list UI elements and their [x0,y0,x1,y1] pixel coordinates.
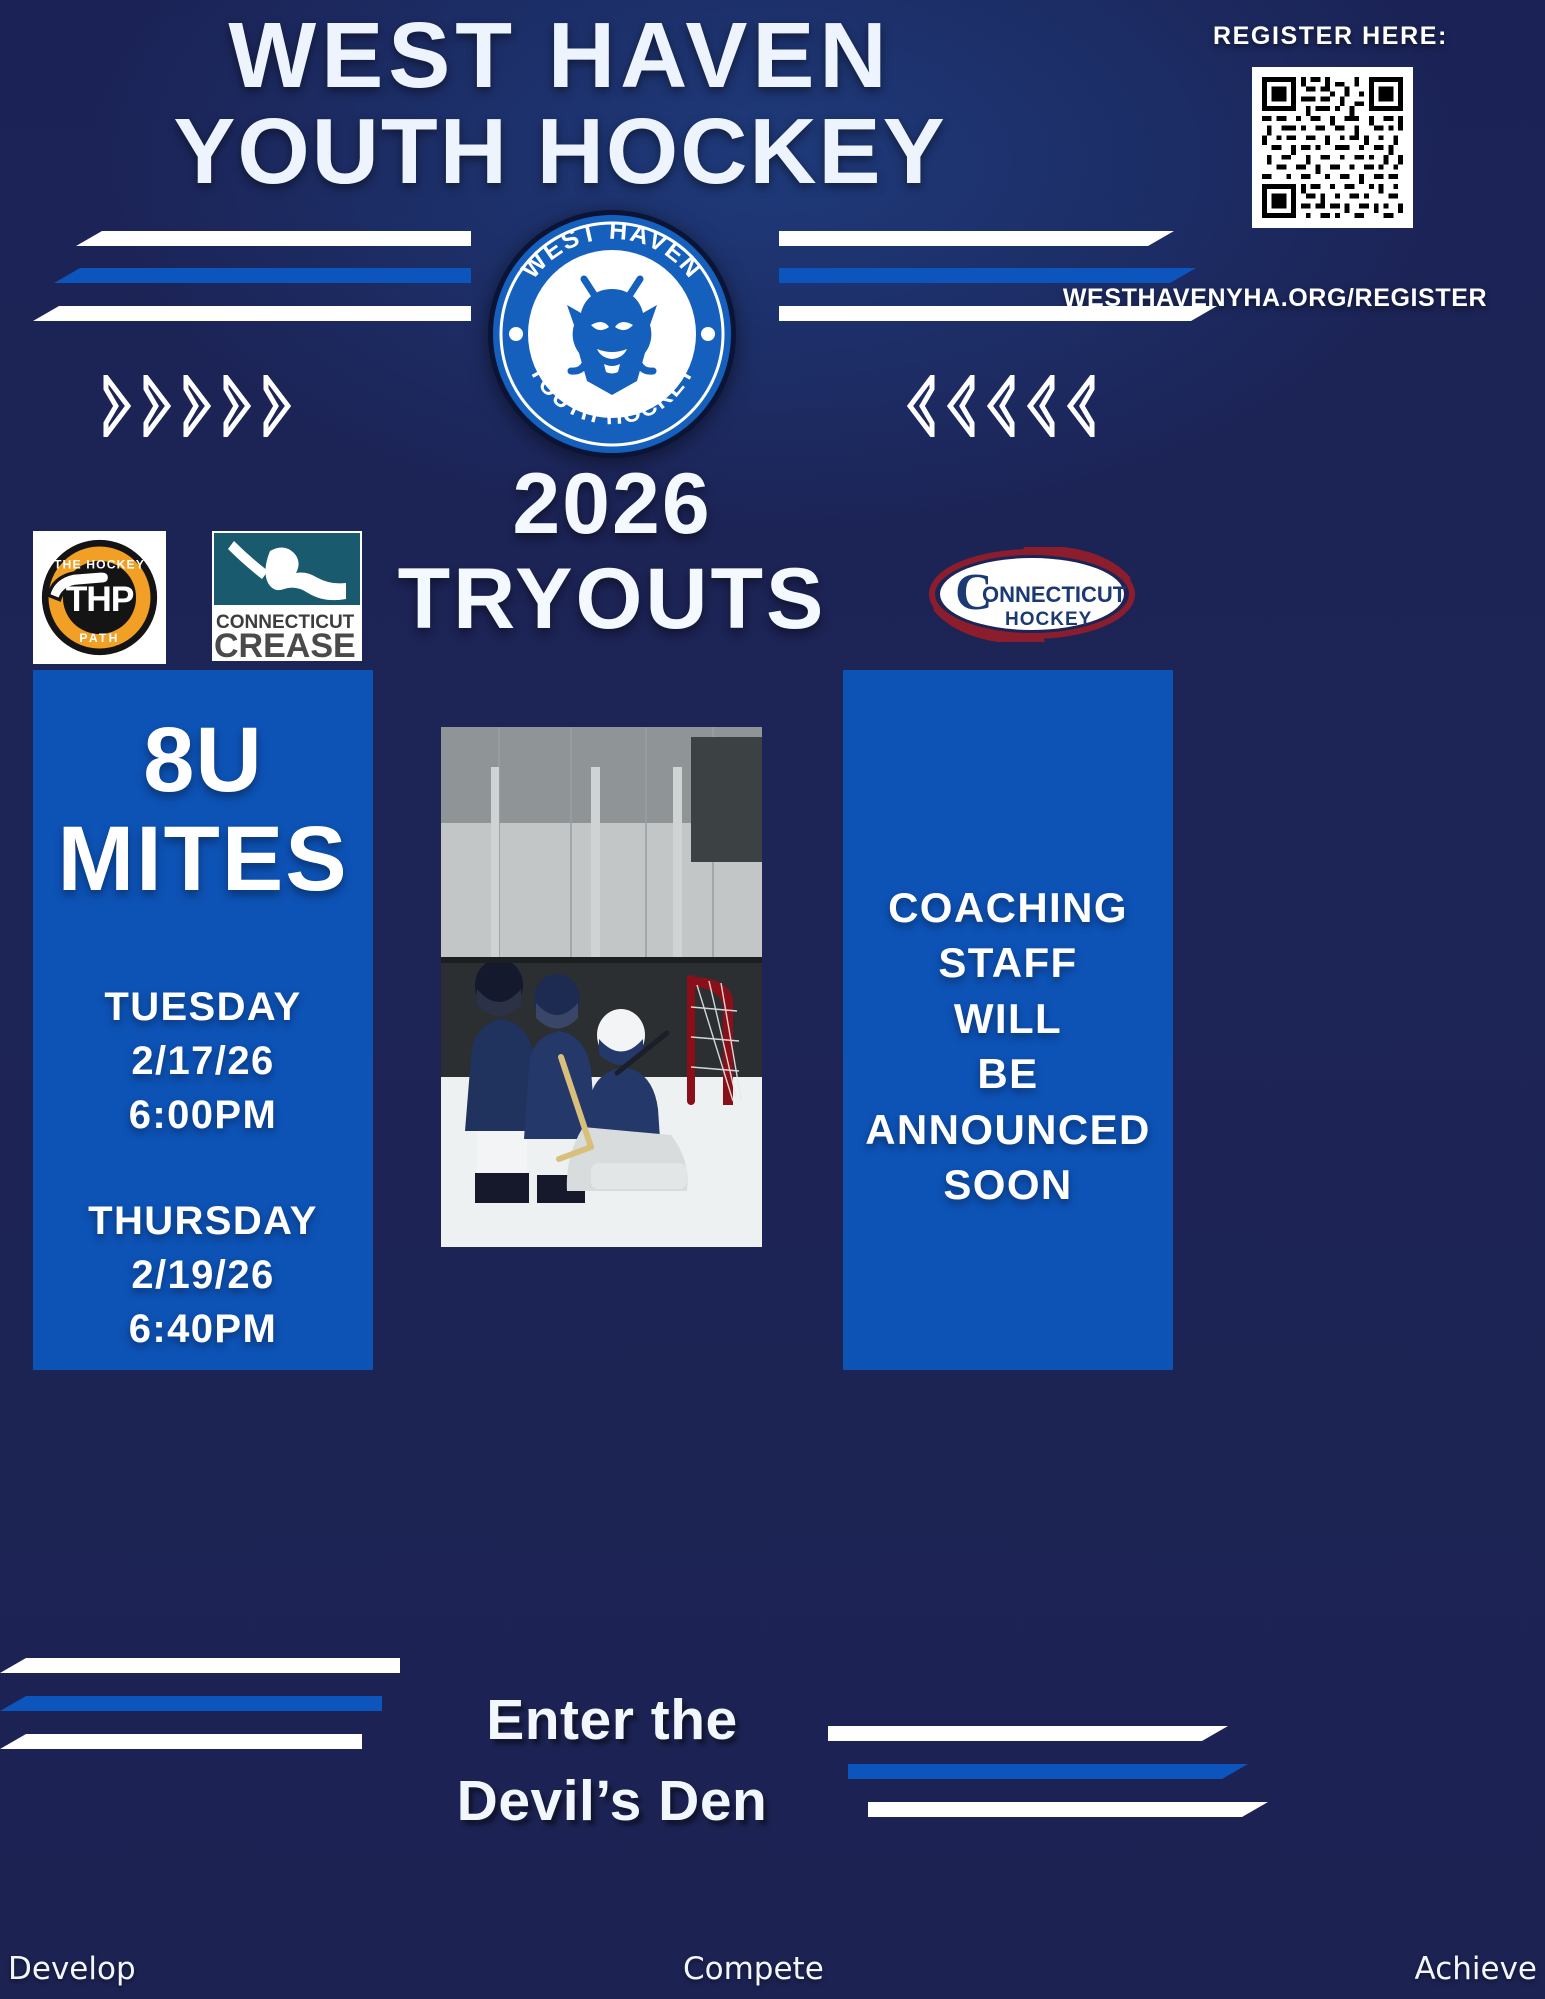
stripe-right-blue [779,268,1196,283]
qr-code-icon[interactable] [1252,67,1413,228]
chevron-right-icon [183,375,213,437]
session-item: THURSDAY 2/19/26 6:40PM [33,1194,373,1356]
chevron-left-icon [945,375,975,437]
svg-text:PATH: PATH [79,631,119,645]
stripe-bottom-left-blue [0,1696,382,1711]
svg-text:HOCKEY: HOCKEY [1005,609,1092,630]
page-title: WEST HAVEN YOUTH HOCKEY [0,8,1120,200]
chevron-right-icon [143,375,173,437]
level-name-label: MITES [33,809,373,910]
session-day: THURSDAY [33,1194,373,1248]
register-block: REGISTER HERE: [1195,22,1545,228]
division-heading: 8U MITES [33,712,373,910]
connecticut-crease-logo: CONNECTICUT CREASE [212,531,362,661]
event-type: TRYOUTS [312,551,912,647]
title-line-1: WEST HAVEN [0,8,1120,104]
tagline: Enter the Devil’s Den [372,1680,852,1842]
chevron-left-icon [1025,375,1055,437]
session-date: 2/19/26 [33,1248,373,1302]
session-date: 2/17/26 [33,1034,373,1088]
chevron-left-icon [905,375,935,437]
stripe-left-white-2 [33,306,471,321]
footer-develop: Develop [8,1951,136,1987]
stripe-bottom-left-white-1 [0,1658,400,1673]
stripe-left-white-1 [76,231,471,246]
footer-achieve: Achieve [1415,1951,1537,1987]
svg-text:CREASE: CREASE [214,627,356,661]
chevron-right-icon [263,375,293,437]
coaching-notice: COACHING STAFF WILL BE ANNOUNCED SOON [843,880,1173,1213]
stripe-right-white-2 [779,306,1217,321]
connecticut-hockey-logo: C ONNECTICUT HOCKEY [927,547,1137,642]
session-time: 6:00PM [33,1088,373,1142]
age-group-label: 8U [33,712,373,809]
coaching-line-6: SOON [843,1157,1173,1212]
coaching-line-3: WILL [843,991,1173,1046]
stripe-bottom-left-white-2 [0,1734,362,1749]
stripe-left-blue [54,268,471,283]
register-label: REGISTER HERE: [1195,22,1545,51]
tryout-sessions: TUESDAY 2/17/26 6:00PM THURSDAY 2/19/26 … [33,980,373,1408]
coaching-line-1: COACHING [843,880,1173,935]
chevron-left-icon [1065,375,1095,437]
session-day: TUESDAY [33,980,373,1034]
svg-text:ONNECTICUT: ONNECTICUT [982,582,1127,607]
chevron-right-icon [223,375,253,437]
coaching-line-5: ANNOUNCED [843,1102,1173,1157]
chevrons-left [103,375,293,437]
stripe-bottom-right-white-1 [828,1726,1228,1741]
coaching-line-2: STAFF [843,935,1173,990]
team-logo: WEST HAVEN YOUTH HOCKEY [487,209,737,459]
svg-text:THE HOCKEY: THE HOCKEY [54,558,145,572]
chevron-left-icon [985,375,1015,437]
event-year: 2026 [312,458,912,551]
tagline-line-1: Enter the [372,1680,852,1761]
svg-text:THP: THP [66,579,134,619]
event-heading: 2026 TRYOUTS [312,458,912,647]
session-item: TUESDAY 2/17/26 6:00PM [33,980,373,1142]
stripe-bottom-right-white-2 [868,1802,1268,1817]
stripe-bottom-right-blue [848,1764,1248,1779]
tagline-line-2: Devil’s Den [372,1761,852,1842]
coaching-line-4: BE [843,1046,1173,1101]
chevrons-right [905,375,1095,437]
youth-hockey-players-photo [441,727,762,1247]
session-time: 6:40PM [33,1302,373,1356]
the-hockey-path-logo: THE HOCKEY THP PATH [33,531,166,664]
title-line-2: YOUTH HOCKEY [0,104,1120,200]
footer-compete: Compete [683,1951,824,1987]
stripe-right-white-1 [779,231,1174,246]
chevron-right-icon [103,375,133,437]
